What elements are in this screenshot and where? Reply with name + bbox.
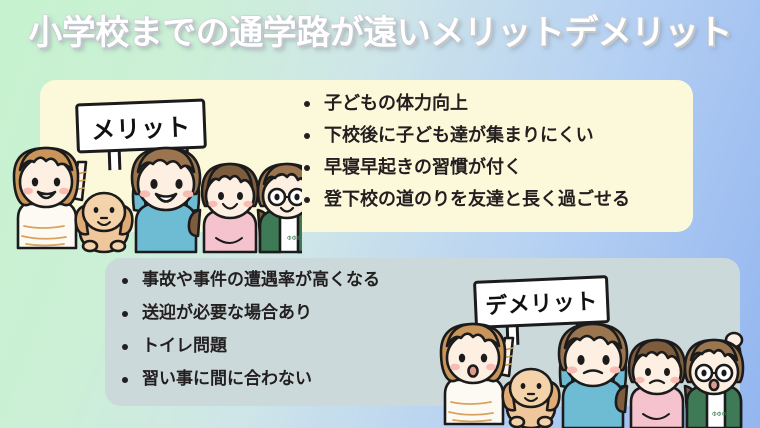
svg-text:ΦΦΦ: ΦΦΦ bbox=[287, 235, 301, 242]
svg-text:ΦΦΦ: ΦΦΦ bbox=[712, 411, 726, 418]
list-item: 下校後に子ども達が集まりにくい bbox=[300, 120, 700, 152]
merit-list: 子どもの体力向上 下校後に子ども達が集まりにくい 早寝早起きの習慣が付く 登下校… bbox=[300, 88, 700, 216]
list-item: 早寝早起きの習慣が付く bbox=[300, 152, 700, 184]
page-title: 小学校までの通学路が遠いメリットデメリット bbox=[0, 8, 760, 58]
slide-canvas: 小学校までの通学路が遠いメリットデメリット 子どもの体力向上 下校後に子ども達が… bbox=[0, 0, 760, 428]
smiling-children-with-dog-illustration: ΦΦΦ bbox=[2, 140, 302, 255]
demerit-sign-label: デメリット bbox=[485, 284, 599, 321]
worried-children-with-dog-illustration: ΦΦΦ bbox=[404, 318, 754, 428]
list-item: 登下校の道のりを友達と長く過ごせる bbox=[300, 184, 700, 216]
list-item: 子どもの体力向上 bbox=[300, 88, 700, 120]
